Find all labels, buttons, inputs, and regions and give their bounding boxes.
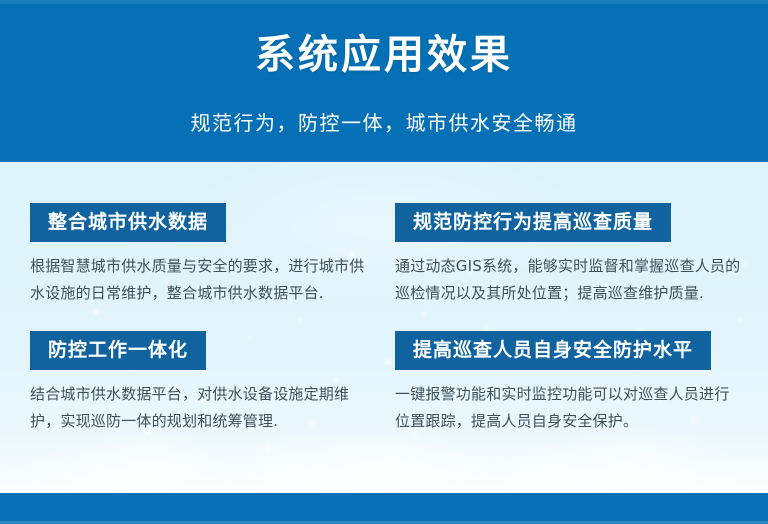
page-title: 系统应用效果 <box>0 28 768 82</box>
card-title-badge: 提高巡查人员自身安全防护水平 <box>395 331 711 370</box>
card-body-text: 根据智慧城市供水质量与安全的要求，进行城市供水设施的日常维护，整合城市供水数据平… <box>30 253 378 307</box>
card-body-text: 通过动态GIS系统，能够实时监督和掌握巡查人员的巡检情况以及其所处位置；提高巡查… <box>395 253 743 307</box>
card-title-badge: 防控工作一体化 <box>30 331 206 370</box>
header-top-accent-strip <box>0 0 768 4</box>
feature-card: 防控工作一体化 结合城市供水数据平台，对供水设备设施定期维护，实现巡防一体的规划… <box>30 331 378 435</box>
footer-bar <box>0 493 768 521</box>
feature-card: 提高巡查人员自身安全防护水平 一键报警功能和实时监控功能可以对巡查人员进行位置跟… <box>395 331 743 435</box>
page-subtitle: 规范行为，防控一体，城市供水安全畅通 <box>0 108 768 138</box>
feature-card-grid: 整合城市供水数据 根据智慧城市供水质量与安全的要求，进行城市供水设施的日常维护，… <box>0 162 768 493</box>
feature-card: 规范防控行为提高巡查质量 通过动态GIS系统，能够实时监督和掌握巡查人员的巡检情… <box>395 203 743 307</box>
header-banner: 系统应用效果 规范行为，防控一体，城市供水安全畅通 <box>0 0 768 162</box>
feature-card: 整合城市供水数据 根据智慧城市供水质量与安全的要求，进行城市供水设施的日常维护，… <box>30 203 378 307</box>
card-body-text: 一键报警功能和实时监控功能可以对巡查人员进行位置跟踪，提高人员自身安全保护。 <box>395 381 743 435</box>
card-body-text: 结合城市供水数据平台，对供水设备设施定期维护，实现巡防一体的规划和统筹管理. <box>30 381 378 435</box>
card-title-badge: 规范防控行为提高巡查质量 <box>395 203 671 242</box>
card-title-badge: 整合城市供水数据 <box>30 203 226 242</box>
